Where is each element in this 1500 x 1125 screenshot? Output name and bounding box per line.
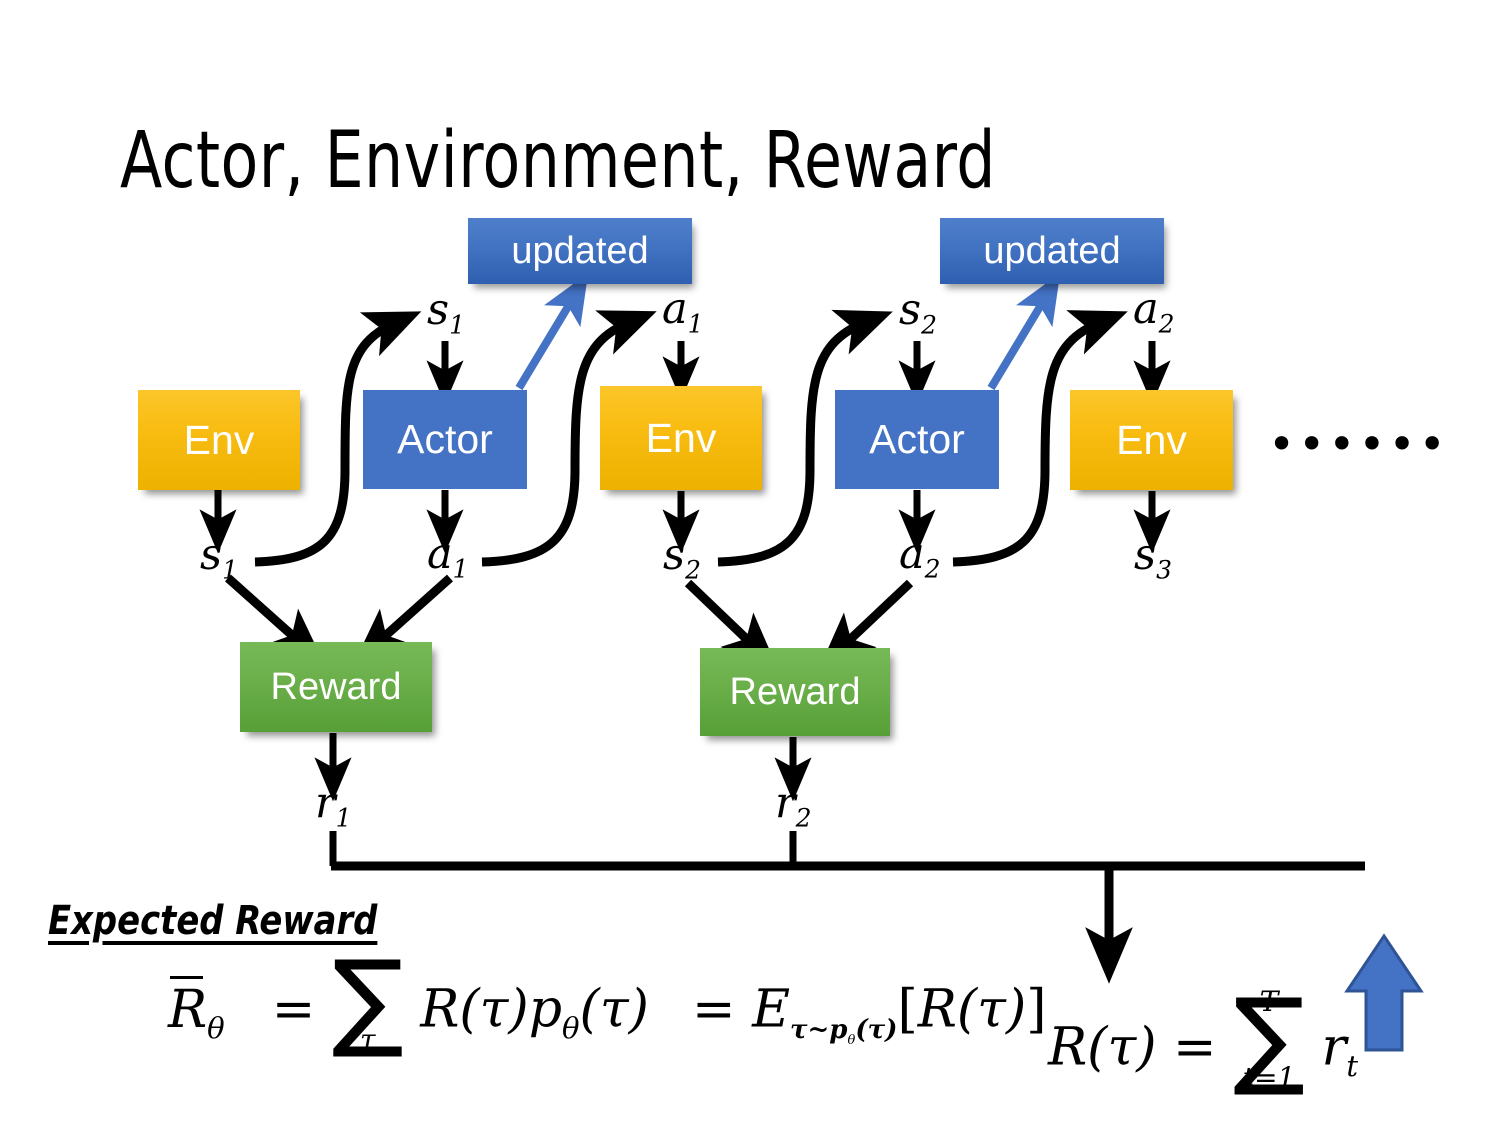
label-r1: r1 [315, 782, 351, 832]
formula-p-theta: θ [562, 1011, 580, 1045]
formula-E: E [752, 980, 790, 1040]
slide-canvas: Actor, Environment, Reward [0, 0, 1500, 1125]
expected-reward-heading: Expected Reward [48, 898, 377, 944]
formula-sum-tau: ∑ τ [332, 962, 404, 1039]
expected-reward-formula: Rθ = ∑ τ R(τ)pθ(τ) = Eτ~pθ(τ)[R(τ)] [168, 962, 1047, 1048]
label-s1-top-sub: 1 [449, 311, 465, 340]
box-reward-1-label: Reward [271, 668, 402, 706]
formula-Rbar-theta: θ [207, 1011, 225, 1045]
label-r2: r2 [775, 782, 811, 832]
box-env-1-label: Env [184, 420, 255, 461]
label-a1-top-base: a [662, 284, 688, 334]
box-actor-1-label: Actor [397, 419, 493, 460]
label-a2-bottom: a2 [899, 533, 941, 583]
label-a2-bottom-base: a [899, 529, 925, 579]
formula-p-tau: (τ) [580, 980, 649, 1040]
label-a1-top-sub: 1 [688, 310, 704, 339]
formula-bracket-open: [ [897, 980, 917, 1040]
label-r1-base: r [315, 778, 336, 828]
label-r2-base: r [775, 778, 796, 828]
label-s1-bottom-sub: 1 [222, 556, 238, 585]
label-s3-bottom-base: s [1134, 530, 1156, 580]
formula-eq-1: = [272, 980, 316, 1040]
label-r2-sub: 2 [796, 804, 812, 833]
label-s1-bottom: s1 [200, 534, 238, 584]
label-a2-top: a2 [1133, 288, 1175, 338]
box-updated-2[interactable]: updated [940, 218, 1164, 284]
box-actor-1[interactable]: Actor [363, 390, 527, 489]
label-s1-bottom-base: s [200, 530, 222, 580]
label-s1-top-base: s [427, 285, 449, 335]
formula-p: p [529, 980, 562, 1040]
label-s3-bottom-sub: 3 [1156, 556, 1172, 585]
label-s3-bottom: s3 [1134, 534, 1172, 584]
label-a2-top-sub: 2 [1159, 310, 1175, 339]
box-env-2[interactable]: Env [600, 386, 762, 490]
return-term-sub: t [1346, 1049, 1358, 1083]
box-actor-2[interactable]: Actor [835, 390, 999, 489]
formula-eq-2: = [692, 980, 736, 1040]
emphasis-up-arrow [1347, 936, 1421, 1050]
box-reward-2-label: Reward [730, 673, 861, 711]
box-actor-2-label: Actor [869, 419, 965, 460]
return-lhs: R(τ) [1048, 1018, 1157, 1078]
formula-sum-index: τ [360, 1023, 376, 1056]
return-term: r [1322, 1018, 1347, 1078]
label-a1-bottom: a1 [427, 533, 469, 583]
label-s2-top-base: s [899, 285, 921, 335]
box-updated-1[interactable]: updated [468, 218, 692, 284]
label-r1-sub: 1 [336, 804, 352, 833]
return-formula: R(τ) = ∑ T t=1 rt [1048, 1000, 1358, 1083]
label-s2-bottom-sub: 2 [685, 556, 701, 585]
ellipsis-continuation: •••••• [1268, 421, 1449, 467]
label-a2-bottom-sub: 2 [925, 555, 941, 584]
formula-bracket-close: ] [1026, 980, 1046, 1040]
label-a1-top: a1 [662, 288, 704, 338]
formula-E-subscript: τ~pθ(τ) [790, 1015, 897, 1045]
box-reward-1[interactable]: Reward [240, 642, 432, 732]
formula-Rbar: R [168, 980, 207, 1040]
formula-R-tau: R(τ) [420, 980, 529, 1040]
label-s2-top: s2 [899, 289, 937, 339]
label-s2-bottom: s2 [663, 534, 701, 584]
label-a1-bottom-sub: 1 [453, 555, 469, 584]
formula-R-tau-2: R(τ) [918, 980, 1027, 1040]
label-s2-top-sub: 2 [921, 311, 937, 340]
label-a1-bottom-base: a [427, 529, 453, 579]
label-s2-bottom-base: s [663, 530, 685, 580]
box-updated-1-label: updated [511, 232, 648, 270]
return-sum-upper: T [1260, 985, 1279, 1018]
box-reward-2[interactable]: Reward [700, 648, 890, 736]
box-updated-2-label: updated [983, 232, 1120, 270]
label-a2-top-base: a [1133, 284, 1159, 334]
return-sum: ∑ T t=1 [1233, 1000, 1305, 1077]
return-sum-lower: t=1 [1243, 1061, 1296, 1094]
box-env-3[interactable]: Env [1070, 390, 1233, 490]
box-env-1[interactable]: Env [138, 390, 300, 490]
label-s1-top: s1 [427, 289, 465, 339]
return-eq: = [1173, 1018, 1217, 1078]
box-env-3-label: Env [1116, 420, 1187, 461]
box-env-2-label: Env [646, 418, 717, 459]
